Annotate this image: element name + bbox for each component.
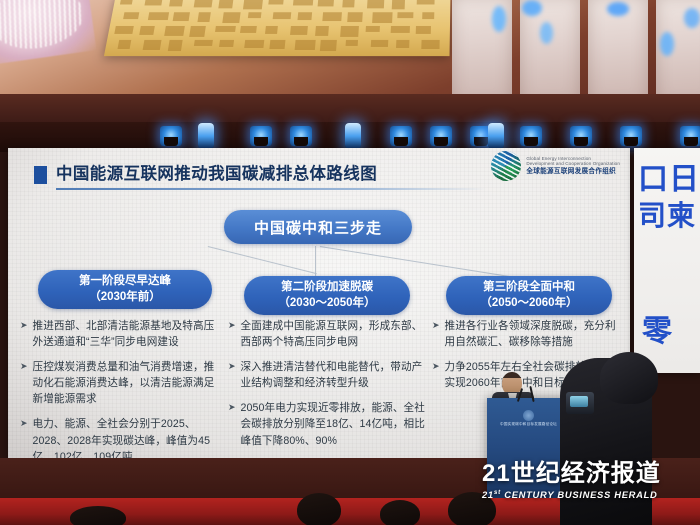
secondary-screen-line-1: 口日 — [638, 154, 700, 198]
light-spot — [540, 22, 553, 44]
light-spot — [492, 6, 506, 32]
audience-head-4 — [70, 506, 126, 525]
stage-2-pill: 第二阶段加速脱碳 （2030～2050年） — [244, 276, 410, 315]
main-node-label: 中国碳中和三步走 — [254, 217, 382, 238]
watermark-english-rest: CENTURY BUSINESS HERALD — [501, 489, 658, 500]
podium-emblem — [523, 410, 534, 421]
list-item: ➤ 电力、能源、全社会分别于2025、2028、2028年实现碳达峰，峰值为45… — [20, 416, 220, 460]
ceiling — [0, 0, 700, 100]
connector-line-left — [208, 246, 317, 274]
stage-3-heading: 第三阶段全面中和 — [483, 280, 575, 296]
bullet-arrow-icon: ➤ — [20, 359, 28, 407]
podium-banner-text: 中国实现碳中和目标发展路径论坛 — [487, 422, 570, 427]
stage-light — [250, 126, 272, 146]
moving-head-light — [198, 123, 214, 149]
light-spot — [684, 8, 700, 28]
bullet-text: 深入推进清洁替代和电能替代，带动产业结构调整和经济转型升级 — [241, 359, 428, 391]
bullet-arrow-icon: ➤ — [432, 318, 440, 350]
stage-3-period: （2050～2060年） — [480, 296, 577, 312]
globe-icon — [491, 151, 521, 181]
camera-viewfinder-screen — [566, 392, 594, 414]
stage-2-heading: 第二阶段加速脱碳 — [281, 280, 373, 296]
moving-head-light — [345, 123, 361, 149]
list-item: ➤ 深入推进清洁替代和电能替代，带动产业结构调整和经济转型升级 — [228, 359, 428, 391]
list-item: ➤ 2050年电力实现近零排放，能源、全社会碳排放分别降至18亿、14亿吨，相比… — [228, 400, 428, 448]
connector-line-center — [315, 246, 316, 280]
bullet-text: 电力、能源、全社会分别于2025、2028、2028年实现碳达峰，峰值为45亿、… — [33, 416, 220, 460]
watermark: 21世纪经济报道 21st CENTURY BUSINESS HERALD — [482, 462, 697, 500]
bullet-arrow-icon: ➤ — [228, 318, 236, 350]
stage-light — [570, 126, 592, 146]
bullet-text: 2050年电力实现近零排放，能源、全社会碳排放分别降至18亿、14亿吨，相比峰值… — [241, 400, 428, 448]
watermark-chinese: 21世纪经济报道 — [482, 462, 697, 486]
connector-line-right — [320, 246, 514, 278]
stage-light — [520, 126, 542, 146]
audience-head-1 — [297, 493, 341, 525]
moving-head-light — [488, 123, 504, 149]
stage-light — [680, 126, 700, 146]
bullet-text: 推进各行业各领域深度脱碳，充分利用自然碳汇、碳移除等措施 — [445, 318, 622, 350]
secondary-screen-line-3: 零 — [642, 306, 672, 350]
audience-head-2 — [380, 500, 420, 525]
list-item: ➤ 全面建成中国能源互联网，形成东部、西部两个特高压同步电网 — [228, 318, 428, 350]
main-node-pill: 中国碳中和三步走 — [224, 210, 412, 244]
secondary-screen: 口日 司柬 零 — [634, 148, 700, 373]
list-item: ➤ 压控煤炭消费总量和油气消费增速，推动化石能源消费达峰，以清洁能源满足新增能源… — [20, 359, 220, 407]
bullet-arrow-icon: ➤ — [20, 416, 28, 460]
stage-1-period: （2030年前） — [89, 290, 161, 306]
bullet-text: 全面建成中国能源互联网，形成东部、西部两个特高压同步电网 — [241, 318, 428, 350]
camera-body — [600, 352, 658, 404]
chandelier — [0, 0, 96, 65]
slide-title: 中国能源互联网推动我国碳减排总体路线图 — [56, 160, 377, 184]
title-accent-mark — [34, 166, 47, 184]
watermark-english-prefix: 21 — [482, 489, 494, 500]
watermark-english: 21st CENTURY BUSINESS HERALD — [482, 489, 697, 500]
organization-logo: Global Energy Interconnection Developmen… — [491, 150, 620, 182]
list-item: ➤ 推进西部、北部清洁能源基地及特高压外送通道和“三华”同步电网建设 — [20, 318, 220, 350]
bullet-arrow-icon: ➤ — [228, 400, 236, 448]
list-item: ➤ 推进各行业各领域深度脱碳，充分利用自然碳汇、碳移除等措施 — [432, 318, 622, 350]
stage-light — [290, 126, 312, 146]
stage-3-pill: 第三阶段全面中和 （2050～2060年） — [446, 276, 612, 315]
logo-chinese: 全球能源互联网发展合作组织 — [526, 168, 620, 175]
stage-light — [160, 126, 182, 146]
ceiling-panel-2 — [520, 0, 580, 106]
stage-1-bullet-list: ➤ 推进西部、北部清洁能源基地及特高压外送通道和“三华”同步电网建设 ➤ 压控煤… — [20, 318, 220, 460]
stage-2-period: （2030～2050年） — [278, 296, 375, 312]
stage-1-pill: 第一阶段尽早达峰 （2030年前） — [38, 270, 212, 309]
bullet-text: 推进西部、北部清洁能源基地及特高压外送通道和“三华”同步电网建设 — [33, 318, 220, 350]
logo-english-line-2: Development and Cooperation Organization — [526, 162, 620, 167]
bullet-arrow-icon: ➤ — [20, 318, 28, 350]
light-spot — [660, 32, 674, 56]
stage-light — [390, 126, 412, 146]
photo-scene: 中国能源互联网推动我国碳减排总体路线图 Global Energy Interc… — [0, 0, 700, 525]
bullet-arrow-icon: ➤ — [432, 359, 440, 391]
title-underline — [56, 188, 486, 190]
light-spot — [522, 0, 542, 16]
coffered-ceiling-panel — [104, 0, 451, 56]
bullet-text: 压控煤炭消费总量和油气消费增速，推动化石能源消费达峰，以清洁能源满足新增能源需求 — [33, 359, 220, 407]
secondary-screen-line-2: 司柬 — [638, 194, 696, 234]
watermark-english-sup: st — [494, 489, 501, 496]
stage-1-heading: 第一阶段尽早达峰 — [79, 274, 171, 290]
stage-2-bullet-list: ➤ 全面建成中国能源互联网，形成东部、西部两个特高压同步电网 ➤ 深入推进清洁替… — [228, 318, 428, 458]
bullet-arrow-icon: ➤ — [228, 359, 236, 391]
stage-light — [430, 126, 452, 146]
light-spot — [607, 2, 629, 16]
stage-light — [620, 126, 642, 146]
